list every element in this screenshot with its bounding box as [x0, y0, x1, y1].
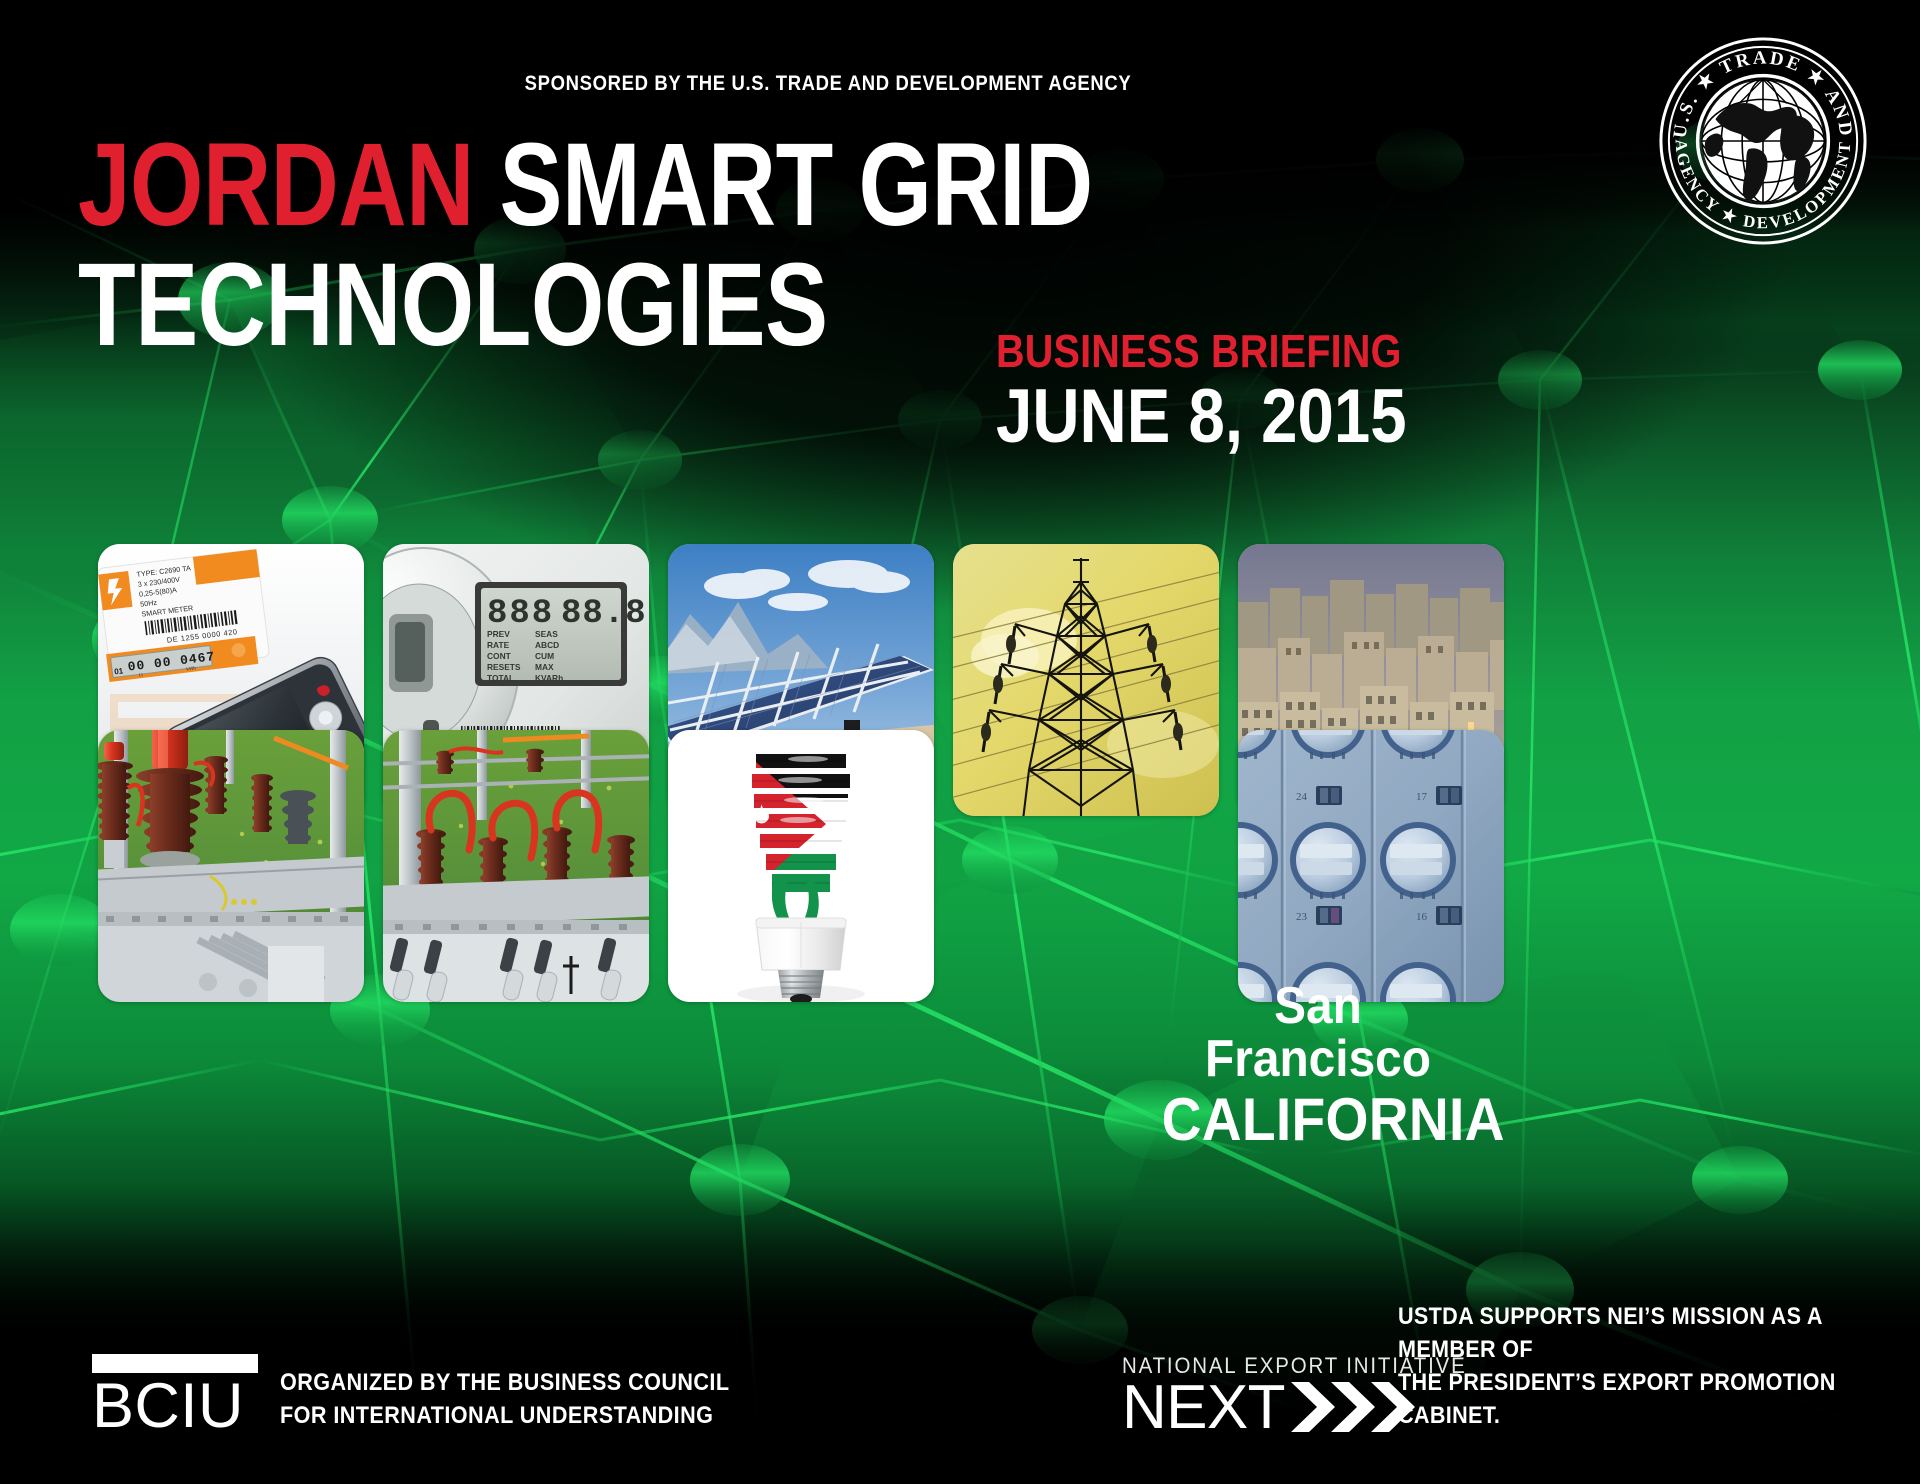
organizer-line-2: FOR INTERNATIONAL UNDERSTANDING: [280, 1399, 729, 1432]
svg-text:CUM: CUM: [535, 651, 554, 661]
svg-text:ABCD: ABCD: [535, 640, 559, 650]
photo-transmission-tower: [953, 544, 1219, 816]
photo-substation-left: [98, 730, 364, 1002]
photo-substation-right: [383, 730, 649, 1002]
svg-text:PREV: PREV: [487, 629, 510, 639]
location-city: San Francisco: [1162, 980, 1475, 1086]
bciu-logo: BCIU: [92, 1354, 258, 1436]
event-location: San Francisco CALIFORNIA: [1148, 980, 1488, 1151]
title-jordan: JORDAN: [78, 119, 474, 251]
poster-canvas: SPONSORED BY THE U.S. TRADE AND DEVELOPM…: [0, 0, 1920, 1484]
briefing-block: BUSINESS BRIEFING JUNE 8, 2015: [996, 328, 1473, 456]
svg-text:KVARh: KVARh: [535, 673, 563, 683]
svg-text:MAX: MAX: [535, 662, 554, 672]
title-smart-grid: SMART GRID: [500, 119, 1093, 251]
nei-next-word: NEXT: [1122, 1379, 1285, 1436]
event-date: JUNE 8, 2015: [996, 378, 1407, 456]
briefing-label: BUSINESS BRIEFING: [996, 328, 1407, 374]
ustda-statement-line-1: USTDA SUPPORTS NEI’S MISSION AS A MEMBER…: [1398, 1300, 1868, 1366]
ustda-statement-line-2: THE PRESIDENT’S EXPORT PROMOTION CABINET…: [1398, 1366, 1868, 1432]
svg-text:CONT: CONT: [487, 651, 512, 661]
location-state: CALIFORNIA: [1162, 1088, 1475, 1151]
organizer-text: ORGANIZED BY THE BUSINESS COUNCIL FOR IN…: [280, 1366, 729, 1432]
svg-text:kWh: kWh: [186, 665, 197, 672]
svg-text:TOTAL: TOTAL: [487, 673, 514, 683]
ustda-nei-statement: USTDA SUPPORTS NEI’S MISSION AS A MEMBER…: [1398, 1300, 1868, 1432]
svg-text:01: 01: [114, 666, 124, 676]
svg-text:888: 888: [487, 595, 554, 633]
ustda-seal-icon: ★ U.S. ★ TRADE ★ AND ★ ★ AGENCY ★ DEVELO…: [1654, 32, 1872, 250]
photo-meter-bank: 24 17 23 16: [1238, 730, 1504, 1002]
photo-cfl-jordan-flag: [668, 730, 934, 1002]
svg-text:SEAS: SEAS: [535, 629, 558, 639]
svg-text:RATE: RATE: [487, 640, 510, 650]
sponsor-line: SPONSORED BY THE U.S. TRADE AND DEVELOPM…: [115, 72, 1805, 96]
footer: BCIU ORGANIZED BY THE BUSINESS COUNCIL F…: [0, 1334, 1920, 1484]
photo-gallery: TYPE: C2690 TA 3 x 230/400V 0,25-5(80)A …: [0, 552, 1920, 1252]
title-technologies: TECHNOLOGIES: [78, 239, 828, 371]
svg-text:LI: LI: [139, 672, 143, 677]
bciu-logo-text: BCIU: [92, 1378, 258, 1436]
svg-text:RESETS: RESETS: [487, 662, 521, 672]
organizer-line-1: ORGANIZED BY THE BUSINESS COUNCIL: [280, 1366, 729, 1399]
svg-text:88.8: 88.8: [561, 595, 647, 633]
